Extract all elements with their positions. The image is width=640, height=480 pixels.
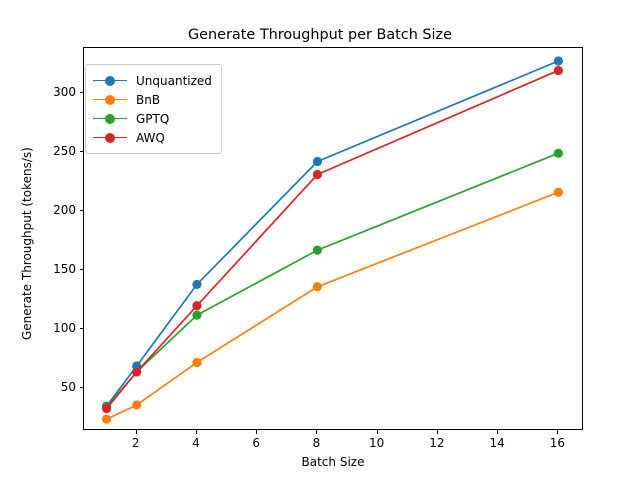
data-point-marker bbox=[192, 280, 201, 289]
legend-label: AWQ bbox=[127, 131, 165, 145]
y-tick-label: 100 bbox=[40, 321, 76, 335]
y-tick-label: 200 bbox=[40, 203, 76, 217]
series-bnb bbox=[102, 188, 563, 424]
x-axis-label: Batch Size bbox=[83, 455, 583, 469]
data-point-marker bbox=[554, 56, 563, 65]
y-tick-label: 250 bbox=[40, 144, 76, 158]
y-tick-label: 50 bbox=[40, 380, 76, 394]
data-point-marker bbox=[192, 311, 201, 320]
data-point-marker bbox=[132, 367, 141, 376]
data-point-marker bbox=[313, 170, 322, 179]
data-point-marker bbox=[313, 282, 322, 291]
legend-marker-icon bbox=[93, 112, 127, 126]
legend-label: BnB bbox=[127, 93, 160, 107]
chart-title: Generate Throughput per Batch Size bbox=[0, 27, 640, 43]
data-point-marker bbox=[192, 358, 201, 367]
x-tick-label: 16 bbox=[550, 436, 565, 450]
legend-item-unquantized: Unquantized bbox=[93, 71, 212, 90]
legend-item-awq: AWQ bbox=[93, 128, 212, 147]
y-tick-label: 150 bbox=[40, 262, 76, 276]
x-tick-label: 12 bbox=[429, 436, 444, 450]
legend-marker-icon bbox=[93, 74, 127, 88]
x-tick-label: 6 bbox=[252, 436, 260, 450]
x-tick-label: 14 bbox=[490, 436, 505, 450]
legend-item-bnb: BnB bbox=[93, 90, 212, 109]
data-point-marker bbox=[554, 188, 563, 197]
x-tick-label: 2 bbox=[132, 436, 140, 450]
y-axis-label: Generate Throughput (tokens/s) bbox=[20, 147, 34, 340]
data-point-marker bbox=[102, 404, 111, 413]
data-point-marker bbox=[313, 157, 322, 166]
data-point-marker bbox=[554, 149, 563, 158]
legend-marker-icon bbox=[93, 93, 127, 107]
legend-label: Unquantized bbox=[127, 74, 212, 88]
data-point-marker bbox=[554, 66, 563, 75]
legend-item-gptq: GPTQ bbox=[93, 109, 212, 128]
x-tick-label: 4 bbox=[192, 436, 200, 450]
x-tick-label: 8 bbox=[313, 436, 321, 450]
data-point-marker bbox=[102, 415, 111, 424]
series-line bbox=[107, 192, 559, 419]
chart-legend: UnquantizedBnBGPTQAWQ bbox=[85, 64, 222, 154]
legend-marker-icon bbox=[93, 131, 127, 145]
x-tick-label: 10 bbox=[369, 436, 384, 450]
data-point-marker bbox=[192, 301, 201, 310]
data-point-marker bbox=[313, 246, 322, 255]
data-point-marker bbox=[132, 400, 141, 409]
legend-label: GPTQ bbox=[127, 112, 169, 126]
y-tick-label: 300 bbox=[40, 85, 76, 99]
chart-figure: Generate Throughput per Batch Size Gener… bbox=[0, 0, 640, 480]
